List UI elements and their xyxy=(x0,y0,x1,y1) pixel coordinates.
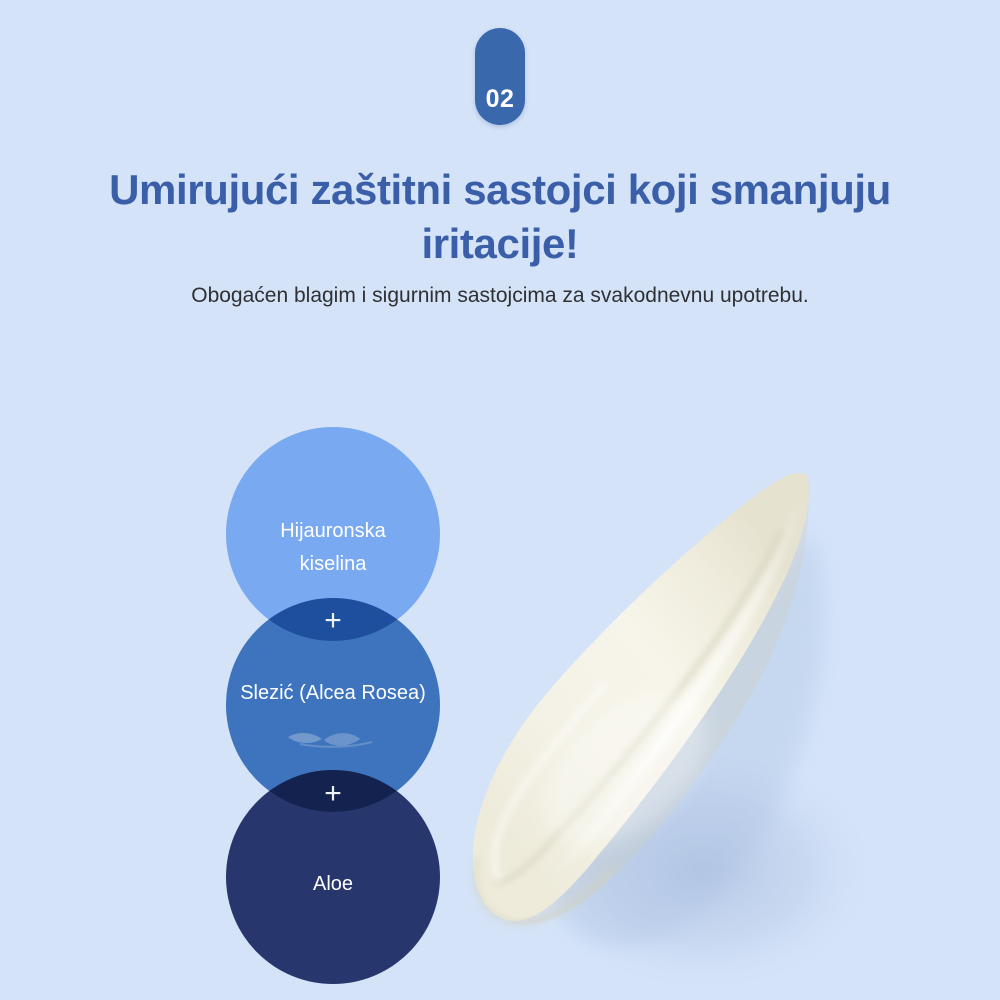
step-number-label: 02 xyxy=(475,87,525,112)
ingredient-label-aloe: Aloe xyxy=(313,873,353,895)
ingredient-label-hijauronska-line1: Hijauronska xyxy=(280,520,386,542)
plus-icon-top: + xyxy=(324,604,342,637)
cream-swatch-illustration xyxy=(455,440,895,1000)
ingredient-circle-slezic xyxy=(226,598,440,812)
ingredient-circle-hijauronska xyxy=(226,427,440,641)
headline-line-2: iritacije! xyxy=(100,217,900,271)
page-title: Umirujući zaštitni sastojci koji smanjuj… xyxy=(100,163,900,271)
page-subtitle: Obogaćen blagim i sigurnim sastojcima za… xyxy=(80,282,920,310)
ingredient-label-hijauronska-line2: kiselina xyxy=(300,553,368,575)
ingredient-circle-aloe xyxy=(226,770,440,984)
step-number-badge: 02 xyxy=(475,28,525,125)
overlap-region-bottom xyxy=(226,770,440,984)
herb-artifact-icon xyxy=(288,733,372,747)
ingredient-label-slezic: Slezić (Alcea Rosea) xyxy=(240,682,426,704)
overlap-region-top xyxy=(226,598,440,812)
plus-icon-bottom: + xyxy=(324,777,342,810)
headline-line-1: Umirujući zaštitni sastojci koji smanjuj… xyxy=(100,163,900,217)
promo-page: 02 Umirujući zaštitni sastojci koji sman… xyxy=(0,0,1000,1000)
